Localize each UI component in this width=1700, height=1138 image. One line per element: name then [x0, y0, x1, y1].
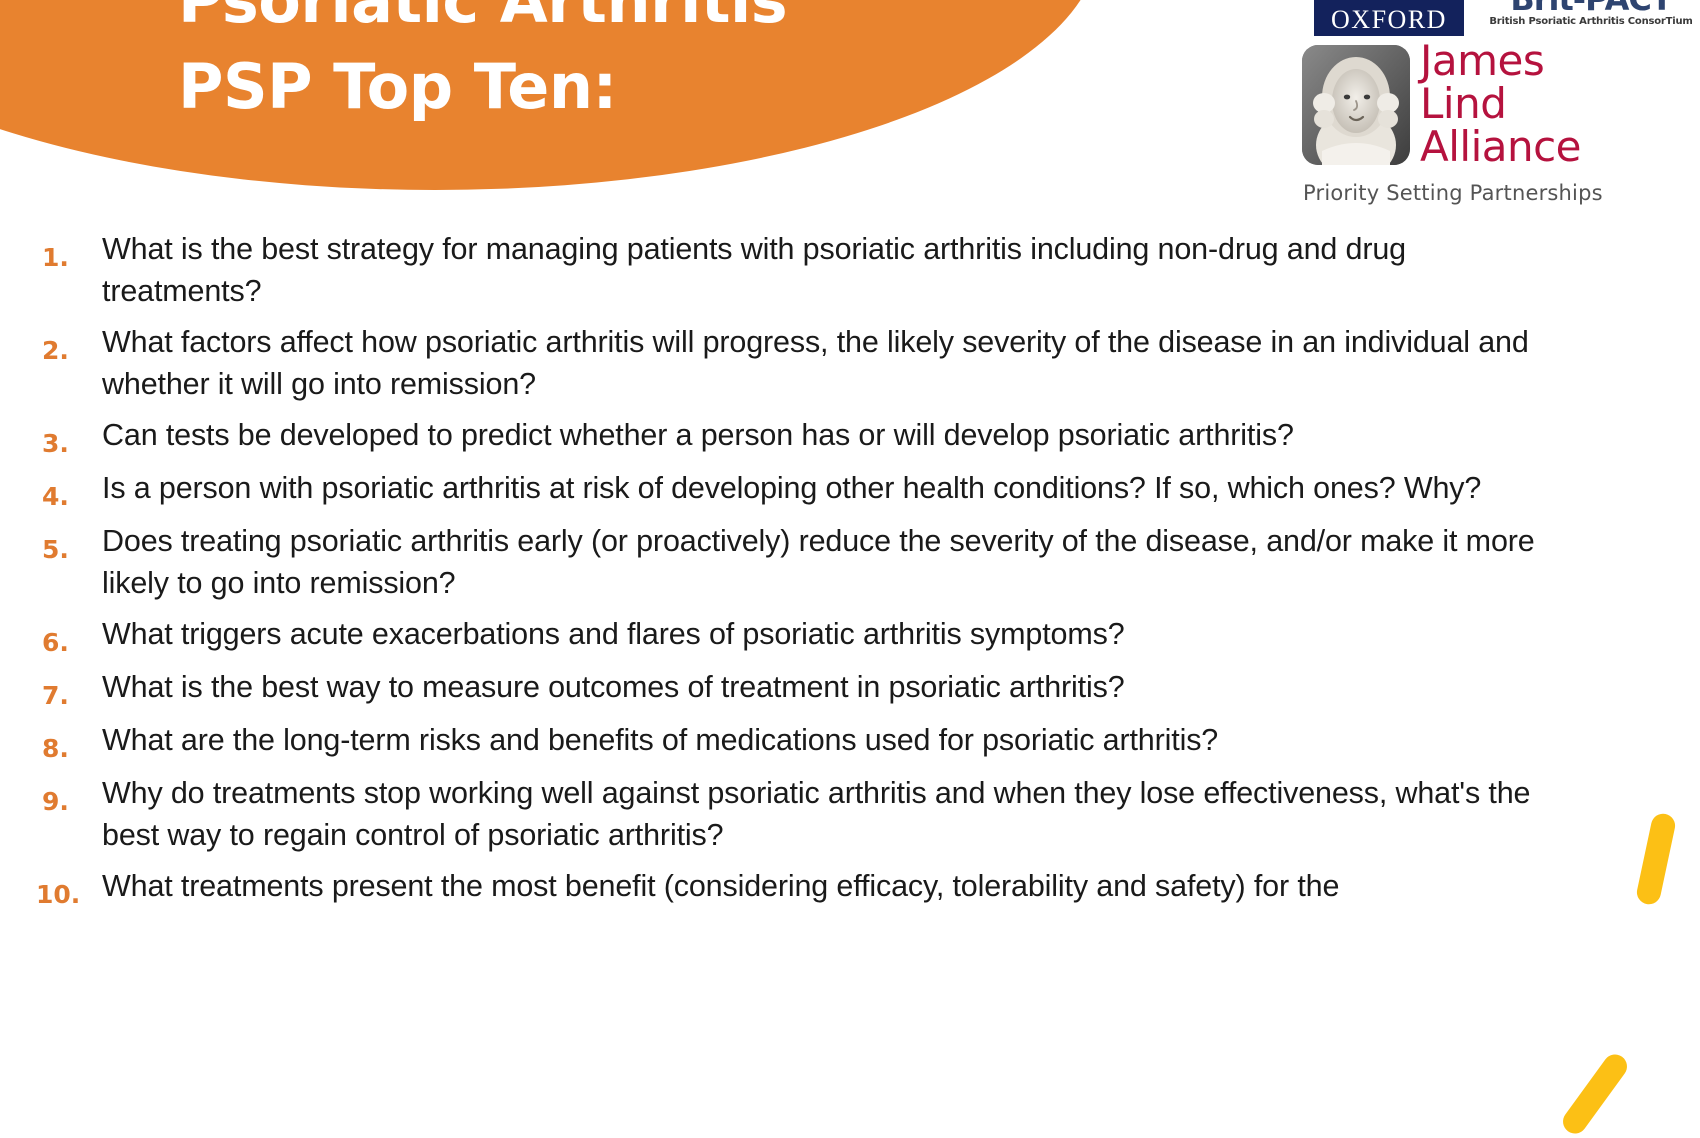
list-item-number: 7.	[36, 674, 102, 718]
oxford-wordmark: OXFORD	[1331, 7, 1447, 33]
list-item-text: Is a person with psoriatic arthritis at …	[102, 467, 1556, 509]
list-item-number: 8.	[36, 727, 102, 771]
list-item-text: Does treating psoriatic arthritis early …	[102, 520, 1556, 604]
logo-bar: OXFORD Brit-PACT British Psoriatic Arthr…	[1280, 0, 1700, 226]
list-item: 2. What factors affect how psoriatic art…	[36, 321, 1556, 405]
oxford-logo: OXFORD	[1314, 0, 1464, 36]
list-item-number: 5.	[36, 528, 102, 572]
list-item-text: What triggers acute exacerbations and fl…	[102, 613, 1556, 655]
list-item-text: What treatments present the most benefit…	[102, 865, 1556, 907]
list-item-text: What is the best strategy for managing p…	[102, 228, 1556, 312]
james-lind-alliance-tagline: Priority Setting Partnerships	[1303, 181, 1603, 205]
list-item-number: 1.	[36, 236, 102, 280]
james-lind-alliance-logo: James Lind Alliance Priority Setting Par…	[1302, 45, 1700, 225]
list-item-text: What are the long-term risks and benefit…	[102, 719, 1556, 761]
list-item: 6. What triggers acute exacerbations and…	[36, 613, 1556, 657]
yellow-dash-decoration	[1558, 1050, 1631, 1138]
list-item: 10. What treatments present the most ben…	[36, 865, 1556, 909]
james-lind-alliance-wordmark: James Lind Alliance	[1420, 39, 1581, 168]
list-item-number: 6.	[36, 621, 102, 665]
brit-pact-wordmark: Brit-PACT	[1488, 0, 1694, 14]
list-item-text: Why do treatments stop working well agai…	[102, 772, 1556, 856]
list-item-number: 2.	[36, 329, 102, 373]
top-ten-question-list: 1. What is the best strategy for managin…	[36, 228, 1556, 918]
jla-wordmark-line-2: Lind	[1420, 82, 1581, 125]
jla-wordmark-line-3: Alliance	[1420, 125, 1581, 168]
list-item-number: 3.	[36, 422, 102, 466]
list-item-number: 10.	[36, 873, 102, 917]
title-line-1: Psoriatic Arthritis	[178, 0, 998, 44]
jla-wordmark-line-1: James	[1420, 39, 1581, 82]
yellow-dash-decoration	[1635, 812, 1678, 907]
page-title: Psoriatic Arthritis PSP Top Ten:	[178, 0, 998, 130]
list-item-number: 9.	[36, 780, 102, 824]
brit-pact-logo: Brit-PACT British Psoriatic Arthritis Co…	[1488, 0, 1694, 29]
list-item: 4. Is a person with psoriatic arthritis …	[36, 467, 1556, 511]
list-item: 8. What are the long-term risks and bene…	[36, 719, 1556, 763]
list-item-text: Can tests be developed to predict whethe…	[102, 414, 1556, 456]
list-item-text: What is the best way to measure outcomes…	[102, 666, 1556, 708]
brit-pact-tagline: British Psoriatic Arthritis ConsorTium	[1488, 15, 1694, 29]
list-item: 7. What is the best way to measure outco…	[36, 666, 1556, 710]
list-item-number: 4.	[36, 475, 102, 519]
list-item: 3. Can tests be developed to predict whe…	[36, 414, 1556, 458]
list-item: 5. Does treating psoriatic arthritis ear…	[36, 520, 1556, 604]
list-item: 9. Why do treatments stop working well a…	[36, 772, 1556, 856]
list-item-text: What factors affect how psoriatic arthri…	[102, 321, 1556, 405]
title-line-2: PSP Top Ten:	[178, 44, 998, 130]
list-item: 1. What is the best strategy for managin…	[36, 228, 1556, 312]
james-lind-portrait-icon	[1302, 45, 1410, 165]
